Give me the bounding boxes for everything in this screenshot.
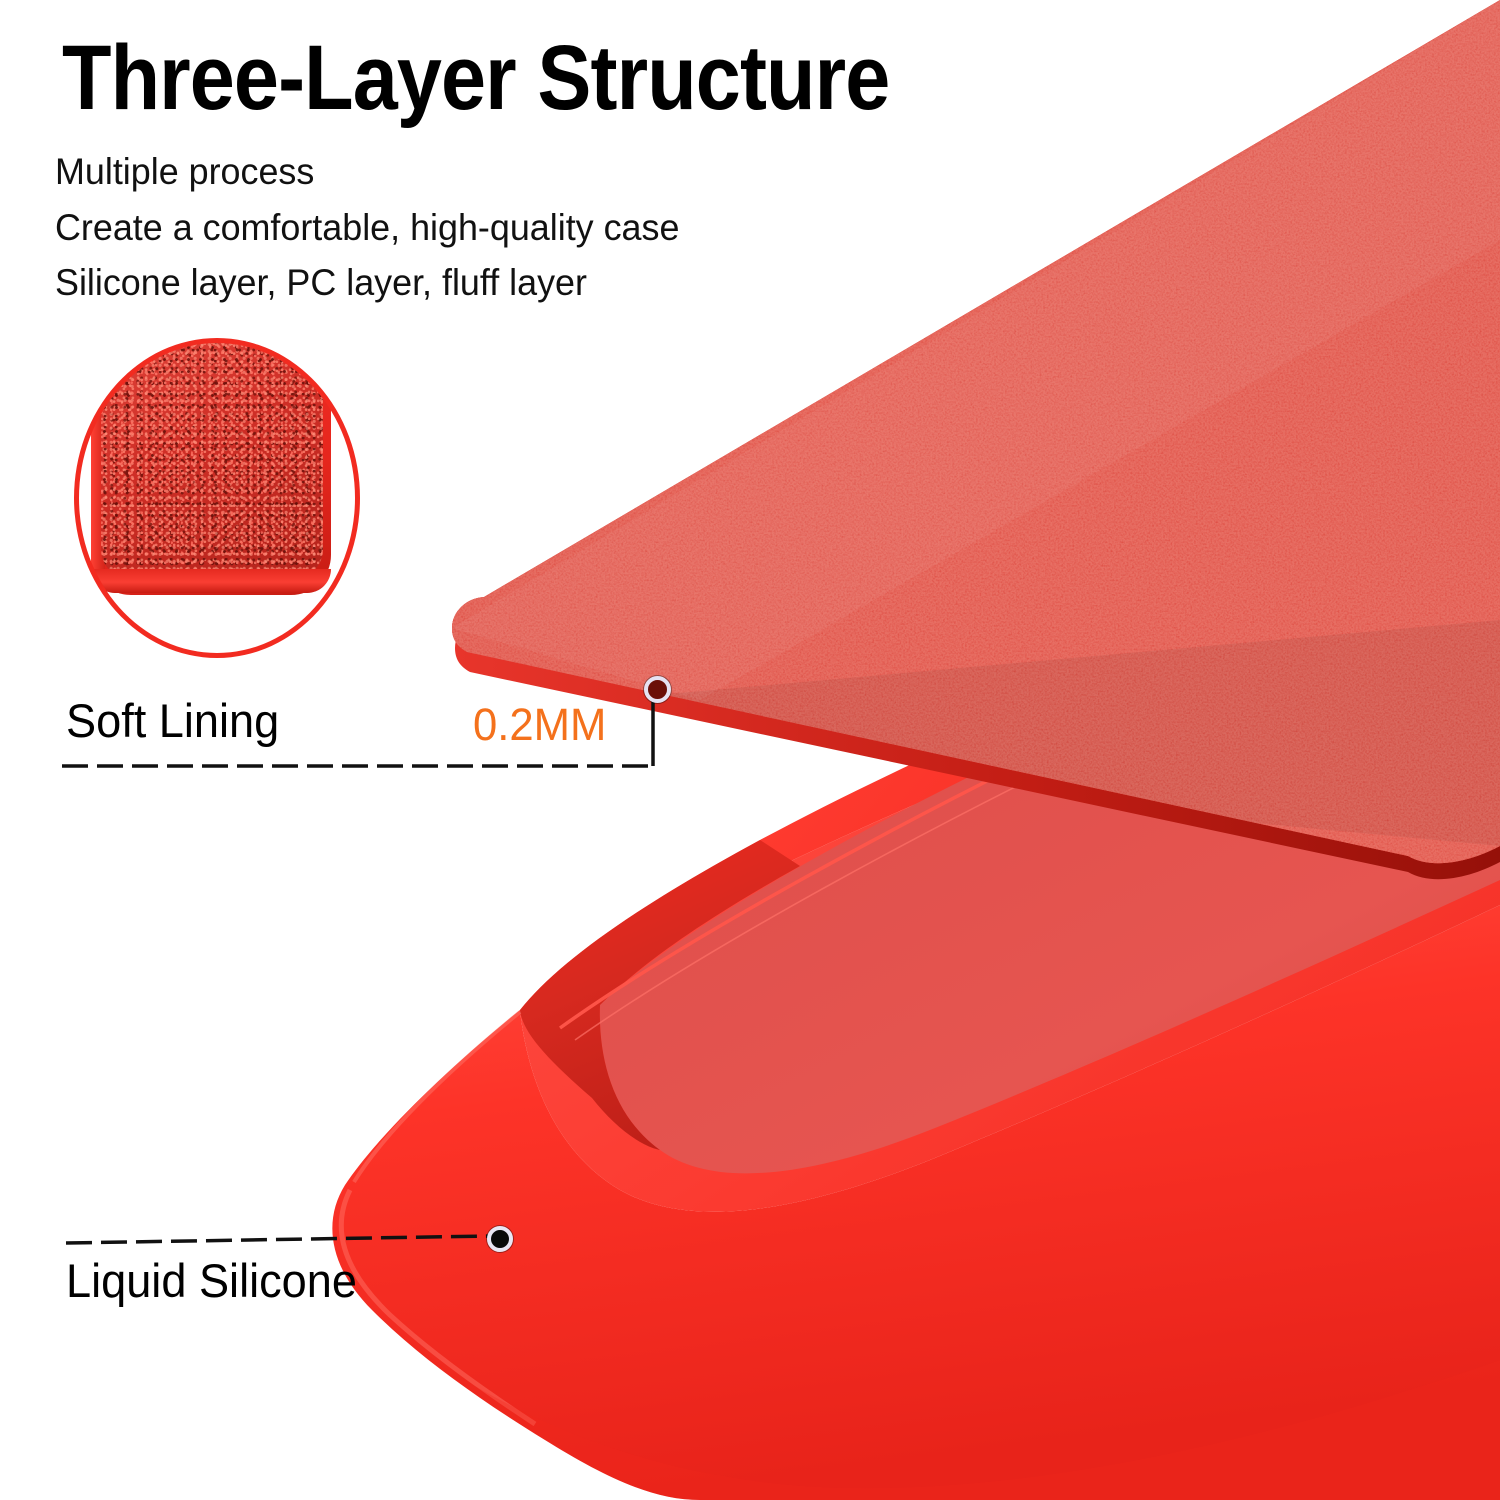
soft-lining-label: Soft Lining [66,696,279,746]
page-title: Three-Layer Structure [62,30,889,126]
inset-ring-outline [74,338,360,658]
soft-lining-magnifier-inset [74,338,366,664]
dot-marker-soft-lining [644,676,671,703]
liquid-silicone-label: Liquid Silicone [66,1256,357,1306]
thickness-value-label: 0.2MM [473,700,606,750]
dot-marker-liquid-silicone [487,1226,513,1252]
infographic-canvas: Three-Layer Structure Multiple process C… [0,0,1500,1500]
subtitle-line-3: Silicone layer, PC layer, fluff layer [55,263,587,303]
subtitle-line-1: Multiple process [55,152,314,192]
subtitle-line-2: Create a comfortable, high-quality case [55,208,679,248]
